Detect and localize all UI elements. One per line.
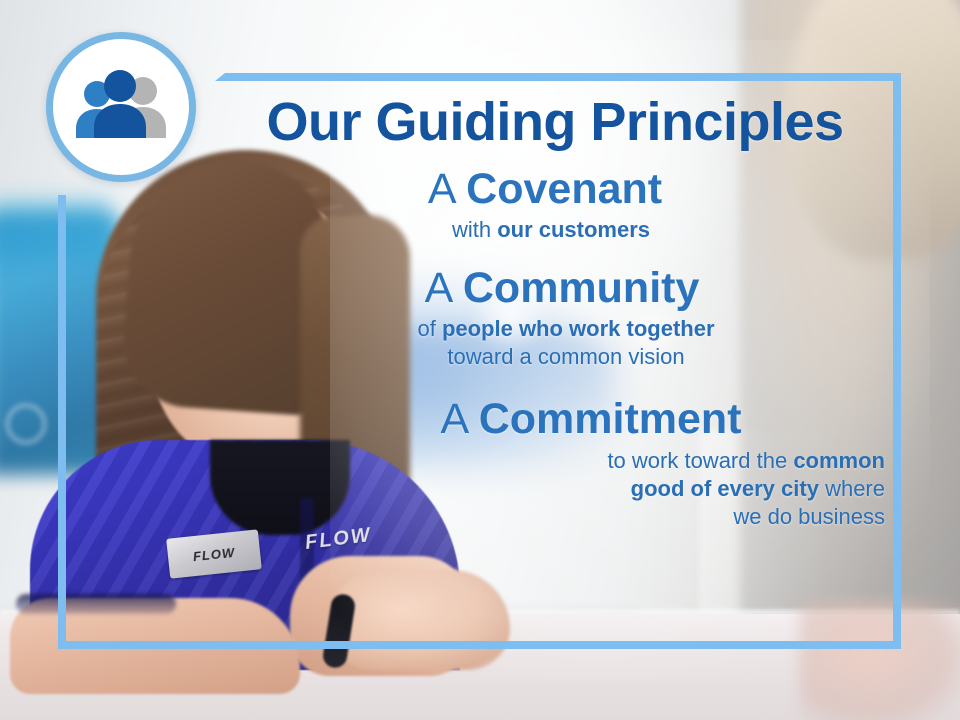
principle-community-sub-bold: people who work together	[442, 316, 715, 341]
page-title: Our Guiding Principles	[215, 94, 895, 151]
principle-covenant-subtitle: with our customers	[215, 216, 895, 244]
principle-covenant-sub-regular: with	[452, 217, 497, 242]
principle-covenant: A Covenant with our customers	[215, 167, 895, 244]
principle-commitment-lead: A	[440, 395, 478, 443]
principles-content: Our Guiding Principles A Covenant with o…	[215, 82, 895, 632]
principle-covenant-title: A Covenant	[215, 167, 895, 212]
principle-community-subtitle: of people who work together toward a com…	[215, 315, 895, 371]
principle-commitment-sub-bold-b: good of every city	[631, 476, 819, 501]
principle-community-sub-regular: of	[417, 316, 441, 341]
principle-commitment: A Commitment to work toward the common g…	[215, 397, 895, 531]
principle-covenant-sub-bold: our customers	[497, 217, 650, 242]
principle-commitment-subtitle: to work toward the common good of every …	[215, 447, 895, 531]
principle-commitment-sub-line3: we do business	[733, 504, 885, 529]
people-group-badge	[46, 32, 196, 182]
principle-commitment-title: A Commitment	[215, 397, 895, 442]
principle-community: A Community of people who work together …	[215, 266, 895, 371]
principle-commitment-word: Commitment	[479, 395, 742, 443]
principle-commitment-sub-regular: to work toward the	[607, 448, 793, 473]
principle-community-word: Community	[463, 264, 700, 312]
principle-covenant-lead: A	[428, 165, 466, 213]
employee-sleeve-hem	[16, 594, 176, 614]
principle-commitment-sub-bold-a: common	[793, 448, 885, 473]
people-group-icon	[67, 70, 175, 144]
principle-commitment-sub-tail: where	[819, 476, 885, 501]
principle-community-title: A Community	[215, 266, 895, 311]
principle-covenant-word: Covenant	[466, 165, 662, 213]
principle-community-lead: A	[425, 264, 463, 312]
principle-community-sub-line2: toward a common vision	[447, 344, 684, 369]
